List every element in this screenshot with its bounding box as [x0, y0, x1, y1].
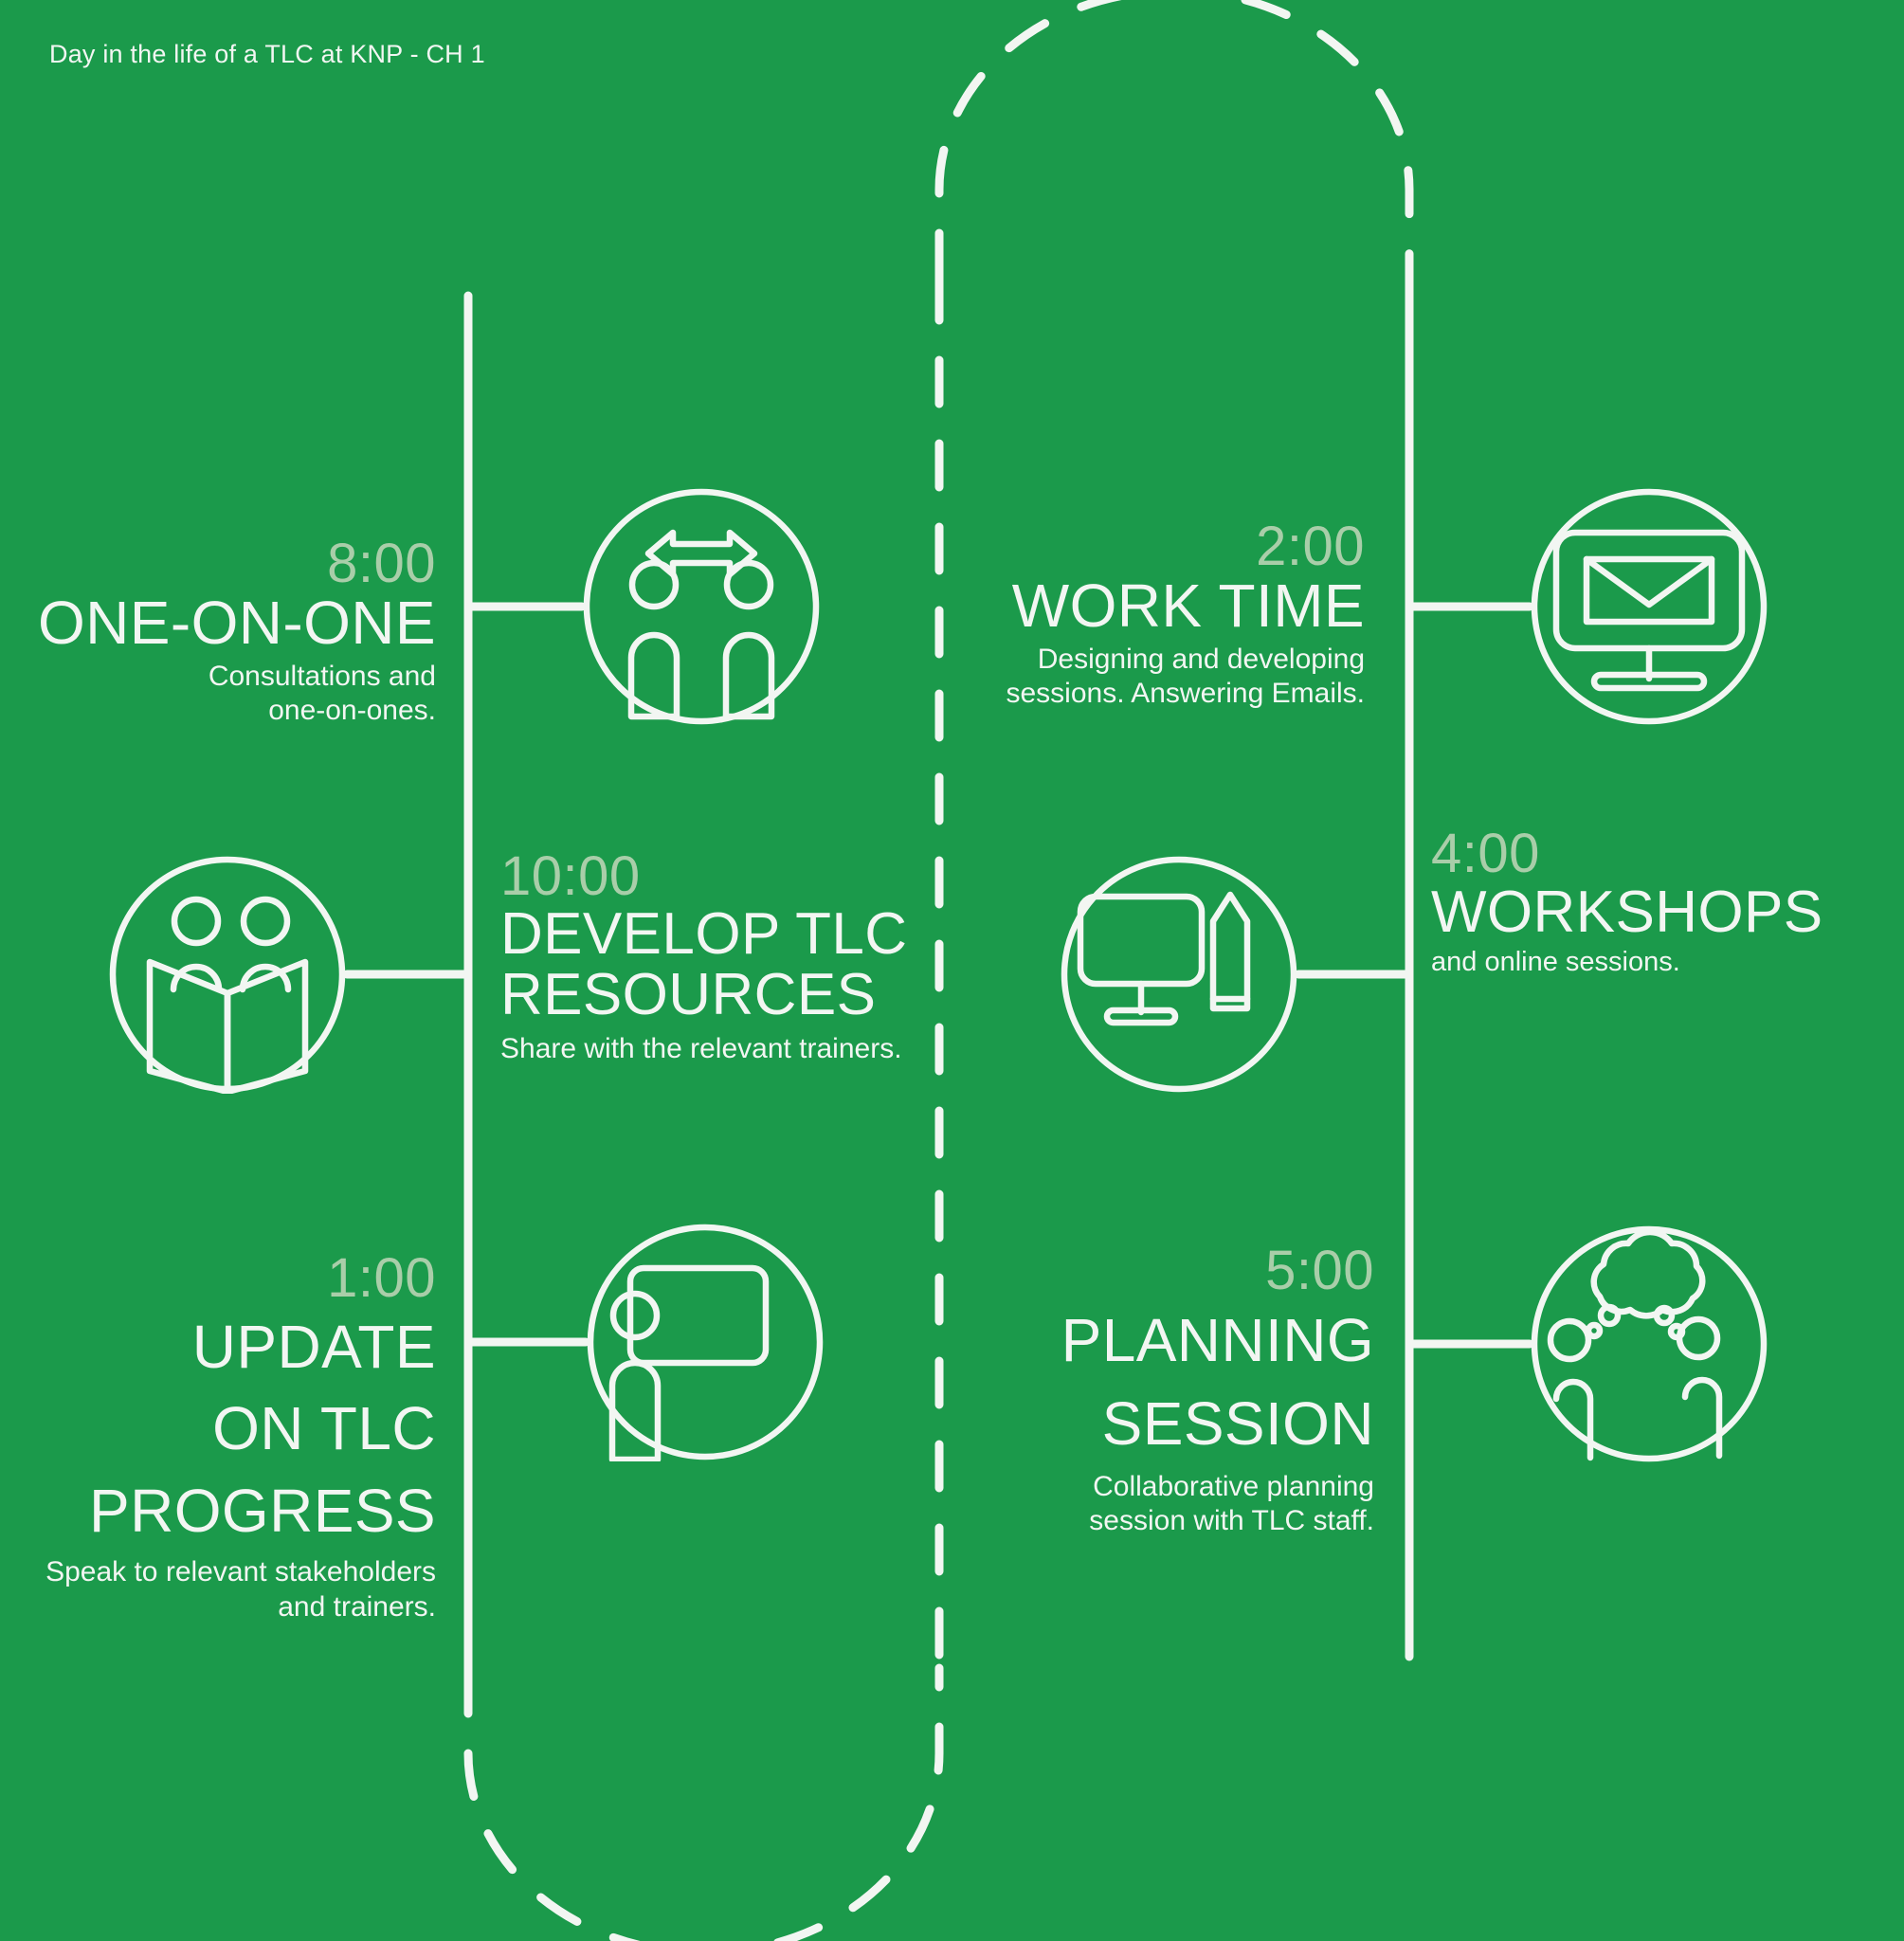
entry-time: 8:00 [19, 536, 436, 591]
bottom-dashed-arc [468, 1668, 939, 1941]
entry-time: 1:00 [19, 1251, 436, 1306]
entry-headline: UPDATE ON TLC PROGRESS [19, 1306, 436, 1551]
two-people-reading-book-icon [108, 855, 347, 1094]
timeline-entry-one-on-one: 8:00 ONE-ON-ONE Consultations and one-on… [19, 536, 436, 729]
two-people-thought-cloud-icon [1530, 1224, 1768, 1463]
entry-time: 10:00 [500, 849, 1003, 904]
entry-description: Consultations and one-on-ones. [19, 660, 436, 729]
monitor-pencil-icon [1060, 855, 1298, 1094]
entry-time: 4:00 [1431, 826, 1848, 881]
entry-headline: DEVELOP TLC RESOURCES [500, 904, 1003, 1026]
timeline-entry-develop-tlc-resources: 10:00 DEVELOP TLC RESOURCES Share with t… [500, 849, 1003, 1067]
two-people-exchange-arrow-icon [582, 487, 821, 726]
entry-description: Share with the relevant trainers. [500, 1032, 1003, 1067]
entry-headline: WORK TIME [967, 574, 1365, 639]
page-title: Day in the life of a TLC at KNP - CH 1 [49, 40, 485, 69]
entry-description: and online sessions. [1431, 946, 1848, 979]
entry-description: Designing and developing sessions. Answe… [967, 643, 1365, 712]
timeline-entry-work-time: 2:00 WORK TIME Designing and developing … [967, 519, 1365, 712]
timeline-entry-planning-session: 5:00 PLANNING SESSION Collaborative plan… [1052, 1243, 1374, 1539]
monitor-envelope-icon [1530, 487, 1768, 726]
entry-description: Speak to relevant stakeholders and train… [19, 1555, 436, 1624]
entry-time: 2:00 [967, 519, 1365, 574]
person-presenting-board-icon [586, 1223, 825, 1461]
entry-headline: ONE-ON-ONE [19, 591, 436, 656]
entry-description: Collaborative planning session with TLC … [1052, 1470, 1374, 1539]
entry-headline: WORKSHOPS [1431, 881, 1848, 944]
timeline-entry-workshops: 4:00 WORKSHOPS and online sessions. [1431, 826, 1848, 979]
timeline-entry-update-on-tlc-progress: 1:00 UPDATE ON TLC PROGRESS Speak to rel… [19, 1251, 436, 1624]
entry-time: 5:00 [1052, 1243, 1374, 1298]
entry-headline: PLANNING SESSION [1052, 1298, 1374, 1466]
top-dashed-arc [939, 0, 1409, 277]
